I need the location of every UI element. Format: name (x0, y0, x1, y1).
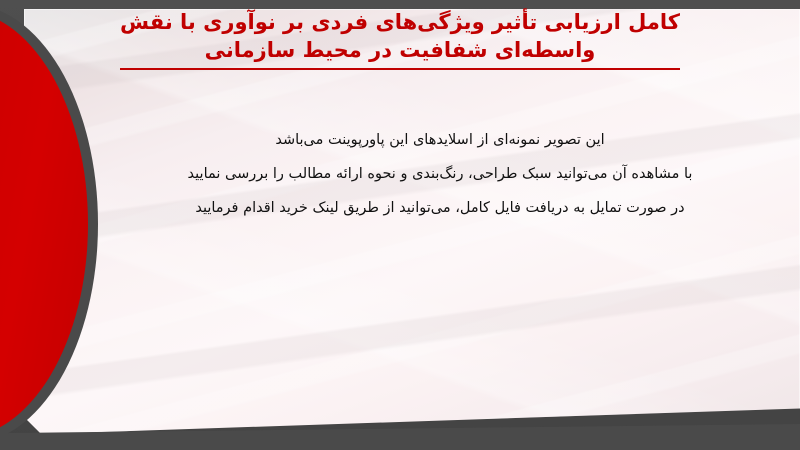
body-line-1: این تصویر نمونه‌ای از اسلایدهای این پاور… (120, 123, 760, 157)
title-underline-rule (120, 68, 680, 70)
slide-body-text: این تصویر نمونه‌ای از اسلایدهای این پاور… (120, 123, 760, 225)
body-line-3: در صورت تمایل به دریافت فایل کامل، می‌تو… (120, 191, 760, 225)
body-line-2: با مشاهده آن می‌توانید سبک طراحی، رنگ‌بن… (120, 157, 760, 191)
slide-title-line-2: واسطه‌ای شفافیت در محیط سازمانی (110, 36, 690, 64)
slide-title-line-1: کامل ارزیابی تأثیر ویژگی‌های فردی بر نوآ… (110, 8, 690, 36)
presentation-slide: کامل ارزیابی تأثیر ویژگی‌های فردی بر نوآ… (0, 0, 800, 450)
slide-title: کامل ارزیابی تأثیر ویژگی‌های فردی بر نوآ… (110, 8, 690, 70)
